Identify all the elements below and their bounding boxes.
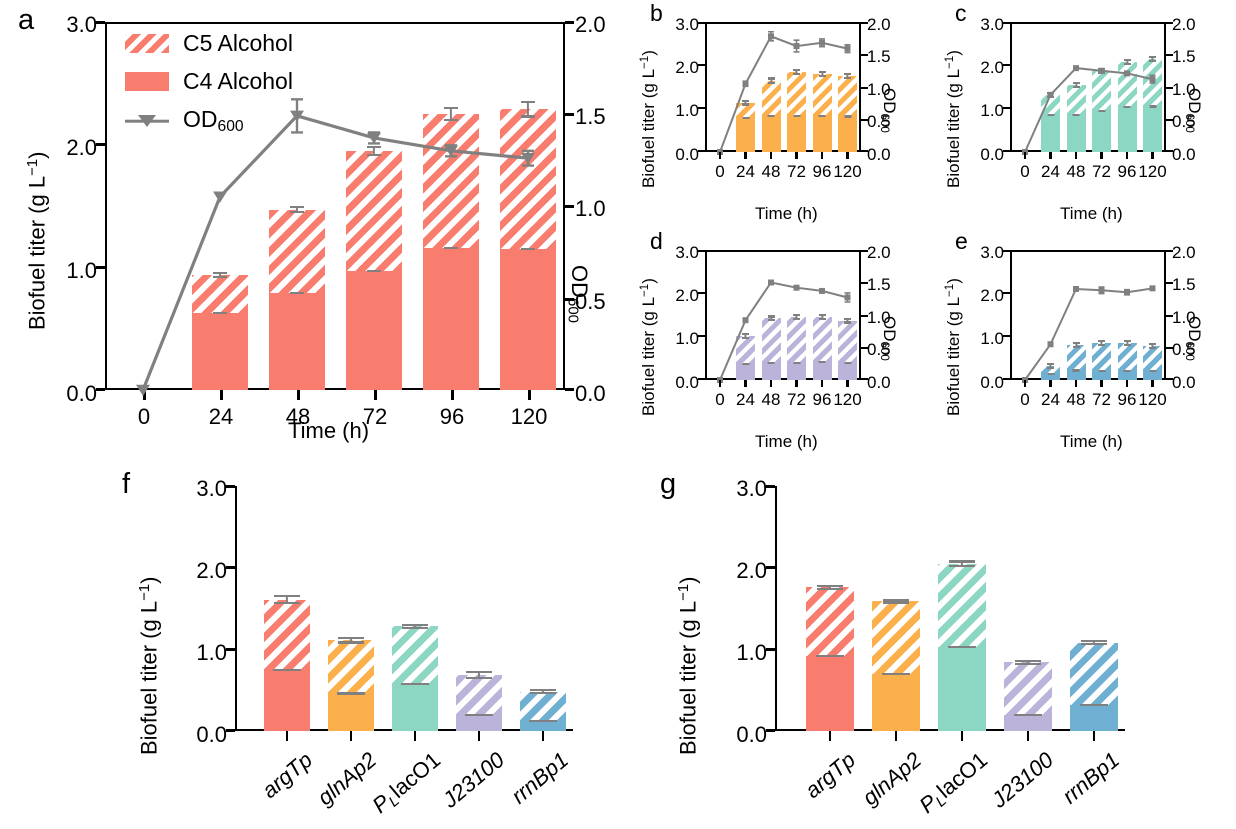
- panel-a-odtick-mark-1: [565, 298, 574, 301]
- inner-error-cap: [948, 646, 976, 648]
- od600-marker: [845, 45, 851, 53]
- x-tick-mark: [770, 380, 772, 387]
- c5-segment: [264, 600, 310, 670]
- panel-c-plot-area: 3.0 2.0 1.0 0.0 2.0 1.5 1.0 0.5 0.0 0244…: [1010, 22, 1166, 152]
- c4-segment: [392, 684, 438, 731]
- panel-b-odtick-mark-4: [861, 22, 868, 24]
- panel-d: d Biofuel titer (g L−1) OD600 Time (h) 3…: [620, 228, 920, 456]
- panel-a-label: a: [18, 6, 34, 35]
- od600-marker: [1150, 75, 1156, 83]
- error-bar: [466, 671, 492, 679]
- panel-e-ytick-mark-2: [1003, 292, 1010, 294]
- panel-a-ytick-0: 0.0: [45, 383, 97, 405]
- c5-segment: [520, 692, 566, 721]
- line-triangle-marker-icon: [125, 112, 169, 131]
- error-bar: [817, 585, 843, 590]
- panel-b-ytick-mark-0: [698, 150, 705, 152]
- panel-g-ytick-mark-1: [766, 648, 775, 651]
- panel-b-odtick-0: 0.0: [867, 146, 909, 163]
- panel-c-ytick-mark-0: [1003, 150, 1010, 152]
- od600-marker: [794, 40, 800, 52]
- c4-segment: [872, 674, 920, 731]
- panel-b-y-axis-title: Biofuel titer (g L−1): [640, 50, 657, 188]
- panel-a-xtick-mark-4: [451, 390, 454, 400]
- panel-f-ytick-mark-1: [226, 648, 235, 651]
- c5-segment: [1070, 643, 1118, 705]
- panel-e-ytick-mark-1: [1003, 335, 1010, 337]
- x-tick-mark: [1024, 380, 1026, 387]
- panel-e: e Biofuel titer (g L−1) OD600 Time (h) 3…: [925, 228, 1225, 456]
- od600-marker: [743, 81, 749, 87]
- od600-line: [143, 116, 528, 390]
- panel-c-odtick-4: 2.0: [1172, 16, 1214, 33]
- panel-d-ytick-mark-3: [698, 250, 705, 252]
- panel-f-y-axis-title: Biofuel titer (g L−1): [138, 577, 160, 755]
- c5-segment: [806, 587, 854, 656]
- panel-d-odtick-4: 2.0: [867, 244, 909, 261]
- panel-b-odtick-3: 1.5: [867, 48, 909, 65]
- x-tick-mark: [829, 731, 832, 741]
- inner-error-cap: [1014, 714, 1042, 716]
- od600-marker: [1124, 289, 1130, 295]
- inner-error-cap: [1080, 704, 1108, 706]
- legend-item-od: OD600: [125, 108, 244, 135]
- panel-d-ytick-2: 2.0: [657, 287, 699, 304]
- panel-c-odtick-2: 1.0: [1172, 81, 1214, 98]
- od600-marker: [768, 280, 774, 286]
- x-category-label: J23100: [987, 747, 1059, 813]
- panel-e-odtick-4: 2.0: [1172, 244, 1214, 261]
- panel-e-odtick-mark-1: [1166, 347, 1173, 349]
- x-tick-mark: [1100, 152, 1102, 159]
- panel-c-odtick-0: 0.0: [1172, 146, 1214, 163]
- x-tick-mark: [770, 152, 772, 159]
- panel-a-xtick-1: 24: [181, 406, 261, 428]
- panel-e-odtick-2: 1.0: [1172, 309, 1214, 326]
- c5-segment: [328, 640, 374, 693]
- od600-marker: [743, 317, 749, 323]
- od600-line: [720, 36, 848, 152]
- panel-d-odtick-mark-2: [861, 315, 868, 317]
- c5-segment: [872, 601, 920, 674]
- panel-g-plot-area: 3.0 2.0 1.0 0.0 argTpglnAp2PLlacO1J23100…: [775, 486, 1125, 731]
- x-category-label: rrnBp1: [506, 747, 573, 809]
- x-tick-mark: [286, 731, 289, 741]
- panel-d-odtick-mark-1: [861, 347, 868, 349]
- panel-c-ytick-0: 0.0: [962, 146, 1004, 163]
- panel-b-odtick-mark-1: [861, 119, 868, 121]
- x-tick-mark: [821, 152, 823, 159]
- od600-line: [1025, 288, 1153, 380]
- panel-c-odtick-mark-1: [1166, 119, 1173, 121]
- y-title-sup: −1: [24, 159, 41, 176]
- panel-g-ytick-1: 1.0: [715, 642, 767, 664]
- panel-g-label: g: [660, 470, 676, 499]
- panel-e-odtick-mark-0: [1166, 378, 1173, 380]
- panel-d-odtick-1: 0.5: [867, 341, 909, 358]
- x-tick-mark: [1151, 380, 1153, 387]
- panel-e-plot-area: 3.0 2.0 1.0 0.0 2.0 1.5 1.0 0.5 0.0 0244…: [1010, 250, 1166, 380]
- x-tick-mark: [1100, 380, 1102, 387]
- inner-error-cap: [529, 720, 557, 722]
- x-tick-mark: [478, 731, 481, 741]
- panel-b-x-axis-title: Time (h): [755, 205, 818, 222]
- panel-c-ytick-3: 3.0: [962, 16, 1004, 33]
- panel-a-xtick-mark-1: [220, 390, 223, 400]
- panel-e-ytick-mark-3: [1003, 250, 1010, 252]
- panel-b-ytick-1: 1.0: [657, 102, 699, 119]
- panel-b-odtick-4: 2.0: [867, 16, 909, 33]
- od600-marker: [1150, 285, 1156, 291]
- panel-g-ytick-3: 3.0: [715, 478, 767, 500]
- panel-b: b Biofuel titer (g L−1) OD600 Time (h) 3…: [620, 0, 920, 228]
- panel-c-odtick-mark-2: [1166, 87, 1173, 89]
- panel-a-xtick-3: 72: [335, 406, 415, 428]
- od600-marker: [819, 288, 825, 294]
- x-tick-mark: [846, 152, 848, 159]
- panel-f: f Biofuel titer (g L−1) 3.0 2.0 1.0 0.0 …: [100, 460, 600, 829]
- x-tick-mark: [719, 380, 721, 387]
- panel-d-odtick-mark-3: [861, 282, 868, 284]
- panel-a-ytick-2: 2.0: [45, 137, 97, 159]
- panel-f-ytick-0: 0.0: [175, 724, 227, 746]
- panel-c: c Biofuel titer (g L−1) OD600 Time (h) 3…: [925, 0, 1225, 228]
- x-tick-mark: [795, 152, 797, 159]
- panel-a-xtick-4: 96: [412, 406, 492, 428]
- x-tick-mark: [414, 731, 417, 741]
- c5-segment: [392, 626, 438, 683]
- panel-a-odtick-mark-0: [565, 388, 574, 391]
- error-bar: [402, 624, 428, 629]
- x-category-label: PLlacO1: [367, 747, 446, 820]
- x-tick-mark: [542, 731, 545, 741]
- stacked-bar: [328, 640, 374, 731]
- stacked-bar: [392, 626, 438, 731]
- od600-marker: [213, 192, 227, 203]
- error-bar: [1081, 640, 1107, 645]
- x-tick-mark: [961, 731, 964, 741]
- inner-error-cap: [273, 669, 301, 671]
- error-bar: [883, 599, 909, 604]
- error-bar: [274, 595, 300, 605]
- x-tick-mark: [795, 380, 797, 387]
- od600-line: [1025, 68, 1153, 152]
- od600-marker: [1124, 70, 1130, 76]
- panel-g-y-axis-title: Biofuel titer (g L−1): [677, 577, 699, 755]
- panel-f-ytick-1: 1.0: [175, 642, 227, 664]
- od600-marker: [1073, 286, 1079, 292]
- panel-d-odtick-3: 1.5: [867, 276, 909, 293]
- panel-d-odtick-2: 1.0: [867, 309, 909, 326]
- legend-label-od: OD600: [183, 108, 244, 135]
- panel-a-xtick-2: 48: [258, 406, 338, 428]
- x-tick-mark: [744, 380, 746, 387]
- solid-swatch-icon: [125, 72, 169, 91]
- panel-f-ytick-mark-0: [226, 729, 235, 732]
- c4-segment: [938, 647, 986, 731]
- panel-a-ytick-mark-0: [96, 388, 105, 391]
- c4-segment: [328, 693, 374, 731]
- panel-e-ytick-3: 3.0: [962, 244, 1004, 261]
- panel-f-label: f: [122, 470, 130, 499]
- panel-f-ytick-mark-3: [226, 485, 235, 488]
- panel-c-x-axis-title: Time (h): [1060, 205, 1123, 222]
- panel-g-ytick-2: 2.0: [715, 560, 767, 582]
- panel-f-ytick-mark-2: [226, 566, 235, 569]
- panel-e-ytick-0: 0.0: [962, 374, 1004, 391]
- x-tick-mark: [1151, 152, 1153, 159]
- x-tick-mark: [744, 152, 746, 159]
- panel-a-ytick-mark-1: [96, 266, 105, 269]
- panel-f-plot-area: 3.0 2.0 1.0 0.0 argTpglnAp2PLlacO1J23100…: [235, 486, 573, 731]
- panel-d-y-axis-title: Biofuel titer (g L−1): [640, 278, 657, 416]
- error-bar: [1015, 660, 1041, 665]
- panel-c-ytick-1: 1.0: [962, 102, 1004, 119]
- panel-d-ytick-mark-2: [698, 292, 705, 294]
- panel-a-odtick-mark-3: [565, 113, 574, 116]
- x-tick-mark: [1075, 152, 1077, 159]
- stacked-bar: [456, 675, 502, 731]
- panel-d-odtick-mark-4: [861, 250, 868, 252]
- panel-b-od-line: [705, 22, 861, 152]
- x-category-label: J23100: [438, 747, 510, 813]
- x-tick-mark: [1075, 380, 1077, 387]
- panel-f-ytick-3: 3.0: [175, 478, 227, 500]
- panel-b-ytick-mark-3: [698, 22, 705, 24]
- x-tick-label: 120: [1125, 163, 1181, 180]
- panel-d-od-line: [705, 250, 861, 380]
- panel-b-odtick-mark-0: [861, 150, 868, 152]
- panel-a-ytick-mark-3: [96, 21, 105, 24]
- panel-f-bars: [235, 486, 573, 731]
- od600-line: [720, 283, 848, 381]
- x-tick-label: 120: [820, 391, 876, 408]
- x-tick-mark: [719, 152, 721, 159]
- legend-label-c5: C5 Alcohol: [183, 32, 293, 55]
- c4-segment: [264, 670, 310, 731]
- x-tick-mark: [895, 731, 898, 741]
- x-tick-mark: [1049, 152, 1051, 159]
- panel-a-odtick-mark-4: [565, 21, 574, 24]
- panel-b-odtick-1: 0.5: [867, 113, 909, 130]
- od600-marker: [1073, 65, 1079, 71]
- panel-b-ytick-mark-1: [698, 107, 705, 109]
- panel-e-odtick-1: 0.5: [1172, 341, 1214, 358]
- panel-d-plot-area: 3.0 2.0 1.0 0.0 2.0 1.5 1.0 0.5 0.0 0244…: [705, 250, 861, 380]
- panel-c-od-line: [1010, 22, 1166, 152]
- panel-c-odtick-mark-3: [1166, 54, 1173, 56]
- y-title-main: Biofuel titer (g L: [24, 176, 49, 330]
- panel-g-ytick-mark-0: [766, 729, 775, 732]
- c4-segment: [520, 721, 566, 731]
- panel-b-ytick-mark-2: [698, 64, 705, 66]
- od600-marker: [845, 293, 851, 302]
- panel-d-odtick-0: 0.0: [867, 374, 909, 391]
- panel-b-ytick-0: 0.0: [657, 146, 699, 163]
- error-bar: [530, 689, 556, 694]
- c4-segment: [1004, 715, 1052, 731]
- od600-marker: [1099, 287, 1105, 294]
- panel-e-odtick-mark-4: [1166, 250, 1173, 252]
- panel-d-ytick-mark-1: [698, 335, 705, 337]
- panel-f-ytick-2: 2.0: [175, 560, 227, 582]
- x-tick-label: 120: [820, 163, 876, 180]
- panel-d-x-axis-title: Time (h): [755, 433, 818, 450]
- c5-segment: [938, 564, 986, 647]
- od600-marker: [1099, 68, 1105, 74]
- od600-marker: [1048, 341, 1054, 347]
- panel-e-od-line: [1010, 250, 1166, 380]
- x-category-label: argTp: [257, 747, 318, 804]
- x-category-label: argTp: [800, 747, 861, 804]
- legend-item-c4: C4 Alcohol: [125, 70, 293, 93]
- od600-marker: [819, 39, 825, 47]
- hatched-swatch-icon: [125, 34, 169, 53]
- panel-a-y-axis-title: Biofuel titer (g L−1): [26, 152, 48, 330]
- inner-error-cap: [337, 692, 365, 694]
- panel-d-ytick-1: 1.0: [657, 330, 699, 347]
- panel-e-ytick-mark-0: [1003, 378, 1010, 380]
- x-tick-mark: [821, 380, 823, 387]
- c5-segment: [456, 675, 502, 715]
- inner-error-cap: [401, 683, 429, 685]
- error-bar: [338, 637, 364, 644]
- x-tick-mark: [846, 380, 848, 387]
- inner-error-cap: [816, 655, 844, 657]
- x-tick-label: 120: [1125, 391, 1181, 408]
- panel-g-ytick-mark-2: [766, 566, 775, 569]
- stacked-bar: [264, 600, 310, 731]
- panel-d-ytick-0: 0.0: [657, 374, 699, 391]
- legend-item-c5: C5 Alcohol: [125, 32, 293, 55]
- panel-e-y-axis-title: Biofuel titer (g L−1): [945, 278, 962, 416]
- c4-segment: [806, 656, 854, 731]
- legend-label-c4: C4 Alcohol: [183, 70, 293, 93]
- panel-c-odtick-1: 0.5: [1172, 113, 1214, 130]
- panel-b-ytick-2: 2.0: [657, 59, 699, 76]
- x-category-label: PLlacO1: [914, 747, 993, 820]
- panel-a-plot-area: 3.0 2.0 1.0 0.0 2.0 1.5 1.0 0.5 0.0 0 24…: [105, 22, 565, 390]
- panel-a: a Biofuel titer (g L−1) OD600 Time (h) 3…: [0, 0, 620, 460]
- panel-e-odtick-3: 1.5: [1172, 276, 1214, 293]
- panel-b-odtick-mark-3: [861, 54, 868, 56]
- panel-b-ytick-3: 3.0: [657, 16, 699, 33]
- x-tick-mark: [350, 731, 353, 741]
- panel-a-ytick-1: 1.0: [45, 260, 97, 282]
- panel-d-odtick-mark-0: [861, 378, 868, 380]
- c4-segment: [456, 715, 502, 731]
- panel-a-xtick-mark-2: [297, 390, 300, 400]
- c4-segment: [1070, 705, 1118, 731]
- panel-e-x-axis-title: Time (h): [1060, 433, 1123, 450]
- panel-d-ytick-3: 3.0: [657, 244, 699, 261]
- x-category-label: rrnBp1: [1057, 747, 1124, 809]
- x-tick-mark: [1027, 731, 1030, 741]
- panel-e-ytick-1: 1.0: [962, 330, 1004, 347]
- panel-c-ytick-mark-2: [1003, 64, 1010, 66]
- c5-segment: [1004, 662, 1052, 714]
- panel-b-odtick-mark-2: [861, 87, 868, 89]
- panel-e-odtick-mark-2: [1166, 315, 1173, 317]
- panel-a-xtick-mark-3: [374, 390, 377, 400]
- panel-a-xtick-mark-5: [528, 390, 531, 400]
- panel-a-ytick-mark-2: [96, 143, 105, 146]
- panel-a-odtick-mark-2: [565, 205, 574, 208]
- inner-error-cap: [882, 673, 910, 675]
- stacked-bar: [872, 601, 920, 731]
- stacked-bar: [520, 692, 566, 731]
- x-tick-mark: [1093, 731, 1096, 741]
- panel-e-odtick-0: 0.0: [1172, 374, 1214, 391]
- x-tick-mark: [1024, 152, 1026, 159]
- panel-c-odtick-mark-0: [1166, 150, 1173, 152]
- od600-marker: [794, 285, 800, 291]
- panel-c-ytick-mark-1: [1003, 107, 1010, 109]
- stacked-bar: [1070, 643, 1118, 731]
- panel-b-plot-area: 3.0 2.0 1.0 0.0 2.0 1.5 1.0 0.5 0.0 0244…: [705, 22, 861, 152]
- error-bar: [949, 560, 975, 567]
- panel-c-odtick-mark-4: [1166, 22, 1173, 24]
- panel-g: g Biofuel titer (g L−1) 3.0 2.0 1.0 0.0 …: [625, 460, 1145, 829]
- panel-b-odtick-2: 1.0: [867, 81, 909, 98]
- panel-d-ytick-mark-0: [698, 378, 705, 380]
- panel-e-ytick-2: 2.0: [962, 287, 1004, 304]
- panel-a-xtick-0: 0: [104, 406, 184, 428]
- panel-g-bars: [775, 486, 1125, 731]
- stacked-bar: [806, 587, 854, 731]
- inner-error-cap: [465, 714, 493, 716]
- panel-g-ytick-mark-3: [766, 485, 775, 488]
- panel-e-odtick-mark-3: [1166, 282, 1173, 284]
- stacked-bar: [1004, 662, 1052, 731]
- panel-c-ytick-mark-3: [1003, 22, 1010, 24]
- panel-a-xtick-5: 120: [489, 406, 569, 428]
- panel-g-ytick-0: 0.0: [715, 724, 767, 746]
- od600-marker: [1048, 92, 1054, 98]
- x-tick-mark: [1049, 380, 1051, 387]
- x-tick-mark: [1126, 380, 1128, 387]
- panel-a-ytick-3: 3.0: [45, 14, 97, 36]
- x-tick-mark: [1126, 152, 1128, 159]
- od600-marker: [136, 385, 150, 396]
- panel-c-odtick-3: 1.5: [1172, 48, 1214, 65]
- panel-c-ytick-2: 2.0: [962, 59, 1004, 76]
- panel-c-y-axis-title: Biofuel titer (g L−1): [945, 50, 962, 188]
